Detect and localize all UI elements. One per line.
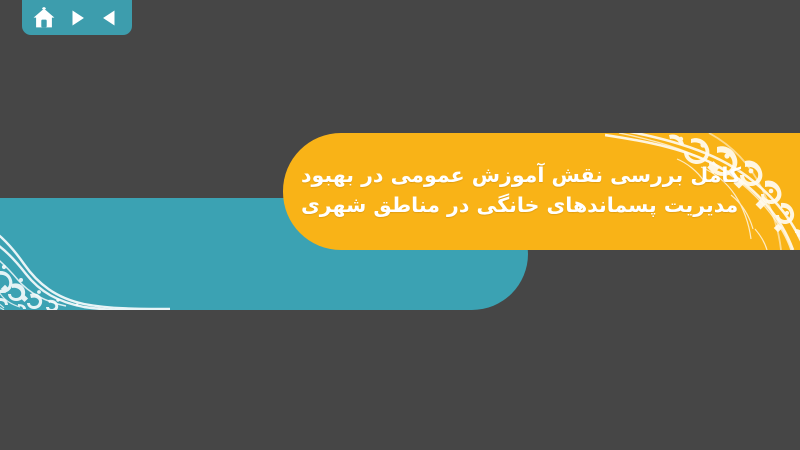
slide-title: کامل بررسی نقش آموزش عمومی در بهبود مدیر… [283, 133, 800, 250]
home-icon [32, 6, 56, 30]
next-slide-button[interactable] [64, 5, 90, 31]
triangle-right-icon [67, 8, 87, 28]
orange-title-band: کامل بررسی نقش آموزش عمومی در بهبود مدیر… [283, 133, 800, 250]
teal-arabesque-ornament-icon [0, 210, 170, 310]
slide-navigation-bar [22, 0, 132, 35]
home-button[interactable] [31, 5, 57, 31]
title-line-2: مدیریت پسماندهای خانگی در مناطق شهری [301, 190, 738, 220]
triangle-left-icon [100, 8, 120, 28]
presentation-slide: کامل بررسی نقش آموزش عمومی در بهبود مدیر… [0, 0, 800, 450]
title-line-1: کامل بررسی نقش آموزش عمومی در بهبود [301, 160, 741, 190]
previous-slide-button[interactable] [97, 5, 123, 31]
